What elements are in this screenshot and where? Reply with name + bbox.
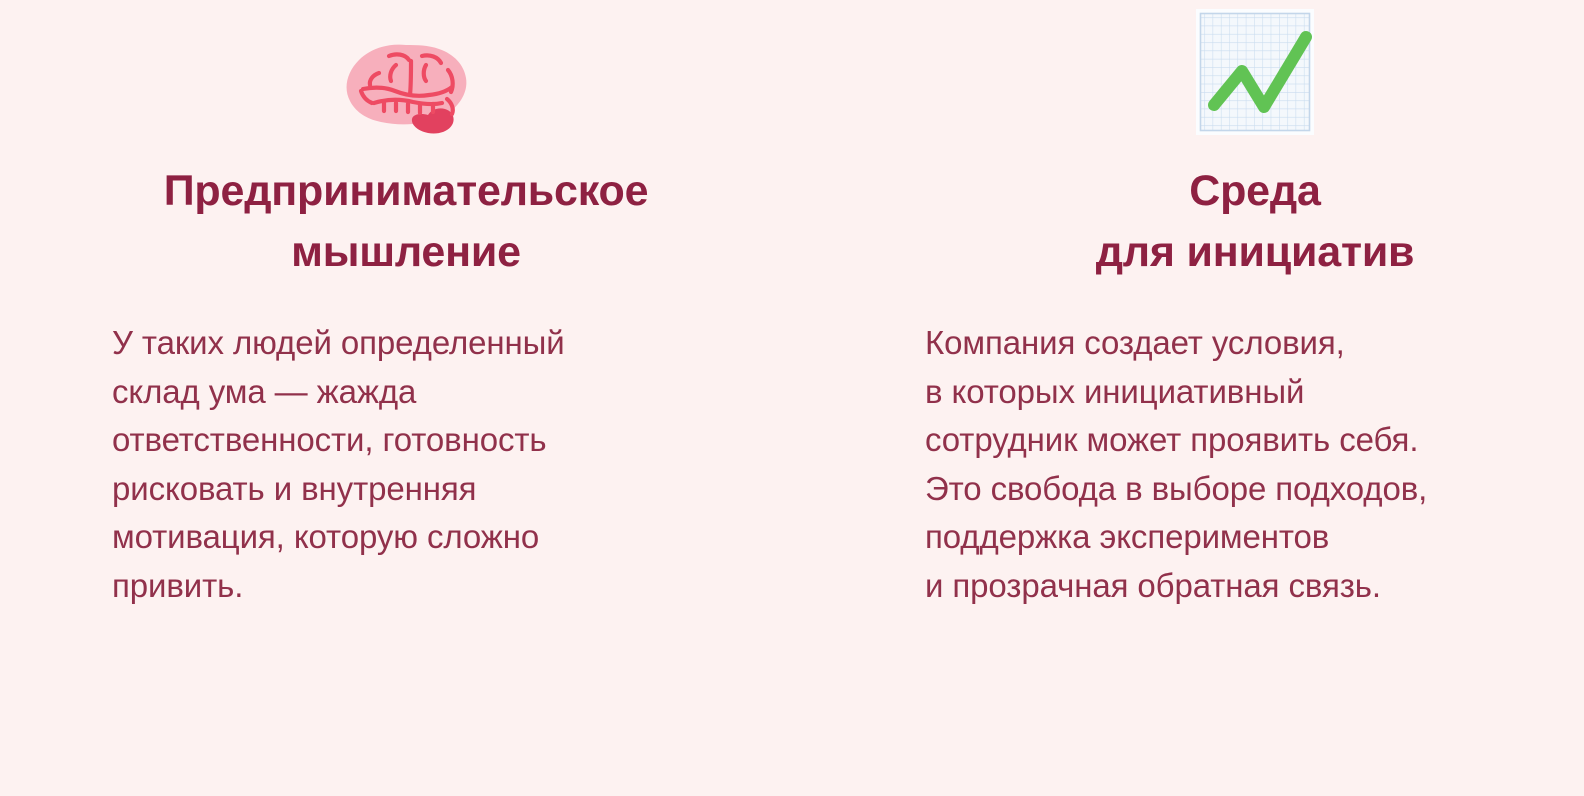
card-title-right: Среда для инициатив [925,135,1584,283]
card-body-left: У таких людей определенный склад ума — ж… [112,283,712,610]
line-chart-icon [1196,9,1314,135]
line-chart-icon-container [925,0,1584,135]
chart-grid [1201,14,1310,131]
card-title-left: Предпринимательское мышление [112,135,700,283]
brain-icon [343,43,469,135]
card-body-right: Компания создает условия, в которых иниц… [925,283,1584,610]
column-entrepreneurial-mindset: Предпринимательское мышление У таких люд… [0,0,792,796]
two-column-layout: Предпринимательское мышление У таких люд… [0,0,1584,796]
slide-root: Предпринимательское мышление У таких люд… [0,0,1584,796]
brain-icon-container [112,0,700,135]
column-initiative-environment: Среда для инициатив Компания создает усл… [792,0,1584,796]
